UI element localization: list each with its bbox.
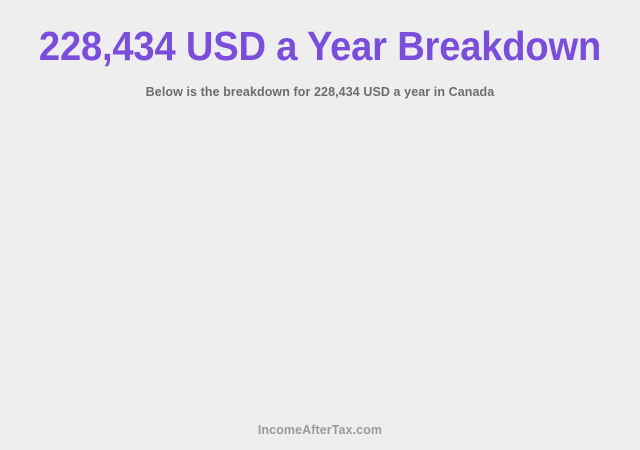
page-subtitle: Below is the breakdown for 228,434 USD a… xyxy=(13,70,627,100)
site-credit-label: IncomeAfterTax.com xyxy=(13,422,627,438)
income-breakdown-page: 228,434 USD a Year Breakdown Below is th… xyxy=(0,0,640,450)
page-footer: IncomeAfterTax.com xyxy=(0,422,640,450)
breakdown-content-area xyxy=(0,100,640,422)
page-header: 228,434 USD a Year Breakdown Below is th… xyxy=(0,0,640,100)
page-title: 228,434 USD a Year Breakdown xyxy=(22,22,617,70)
